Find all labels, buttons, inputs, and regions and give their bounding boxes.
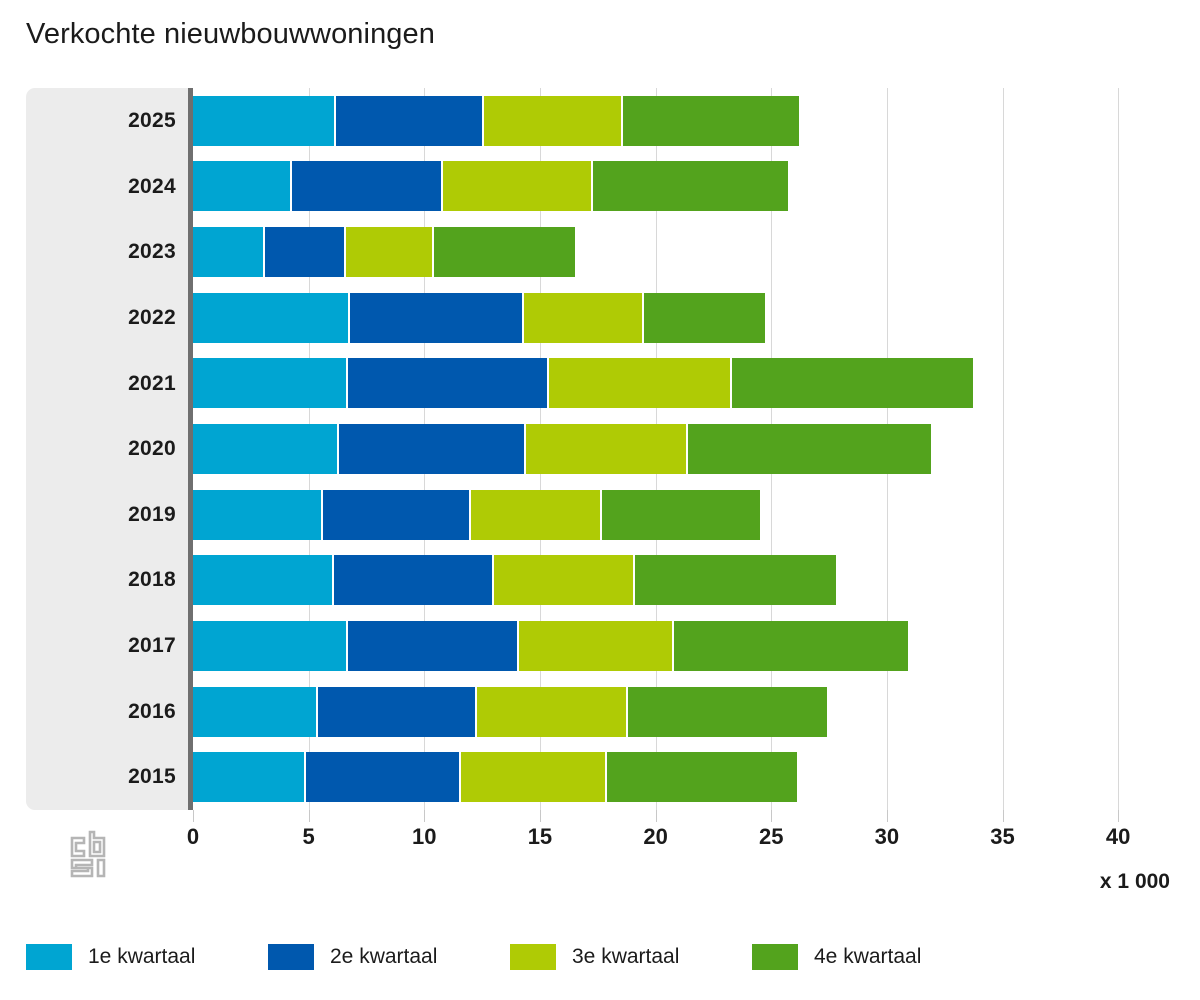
bar-segment-2021-q4[interactable]	[732, 358, 973, 408]
x-tick-mark	[771, 810, 772, 822]
bar-segment-2022-q3[interactable]	[524, 293, 642, 343]
bar-segment-2023-q4[interactable]	[434, 227, 575, 277]
bar-segment-2023-q3[interactable]	[346, 227, 432, 277]
bar-segment-2018-q1[interactable]	[193, 555, 332, 605]
bar-track	[193, 227, 1176, 277]
bar-track	[193, 687, 1176, 737]
category-label-2020: 2020	[26, 416, 176, 482]
x-tick-mark	[424, 810, 425, 822]
bar-track	[193, 555, 1176, 605]
bar-segment-2017-q1[interactable]	[193, 621, 346, 671]
legend-swatch-icon	[510, 944, 556, 970]
category-label-2016: 2016	[26, 679, 176, 745]
category-label-2024: 2024	[26, 154, 176, 220]
bar-track	[193, 96, 1176, 146]
bar-track	[193, 358, 1176, 408]
bar-track	[193, 424, 1176, 474]
bar-segment-2015-q3[interactable]	[461, 752, 605, 802]
x-tick-mark	[540, 810, 541, 822]
bar-segment-2018-q3[interactable]	[494, 555, 633, 605]
bar-row: 2019	[26, 482, 1176, 548]
bar-segment-2015-q1[interactable]	[193, 752, 304, 802]
bar-segment-2019-q1[interactable]	[193, 490, 321, 540]
legend-item-q2[interactable]: 2e kwartaal	[268, 944, 510, 970]
x-tick-label-15: 15	[528, 824, 552, 850]
bar-segment-2025-q2[interactable]	[336, 96, 482, 146]
unit-label: x 1 000	[1100, 870, 1170, 894]
bar-segment-2025-q4[interactable]	[623, 96, 799, 146]
legend-swatch-icon	[752, 944, 798, 970]
x-tick-label-5: 5	[303, 824, 315, 850]
bar-segment-2015-q4[interactable]	[607, 752, 797, 802]
bar-segment-2024-q1[interactable]	[193, 161, 290, 211]
bar-segment-2017-q3[interactable]	[519, 621, 672, 671]
legend-item-q3[interactable]: 3e kwartaal	[510, 944, 752, 970]
bar-track	[193, 293, 1176, 343]
bar-segment-2020-q2[interactable]	[339, 424, 524, 474]
chart-page: Verkochte nieuwbouwwoningen 202520242023…	[0, 0, 1200, 1000]
bar-segment-2016-q2[interactable]	[318, 687, 476, 737]
bar-segment-2025-q1[interactable]	[193, 96, 334, 146]
bar-segment-2018-q4[interactable]	[635, 555, 837, 605]
bar-segment-2020-q3[interactable]	[526, 424, 686, 474]
bar-segment-2015-q2[interactable]	[306, 752, 459, 802]
bar-segment-2024-q3[interactable]	[443, 161, 591, 211]
bar-segment-2022-q2[interactable]	[350, 293, 521, 343]
bar-row: 2018	[26, 547, 1176, 613]
page-title: Verkochte nieuwbouwwoningen	[26, 18, 435, 51]
bar-segment-2021-q2[interactable]	[348, 358, 547, 408]
bar-segment-2025-q3[interactable]	[484, 96, 621, 146]
category-label-2021: 2021	[26, 351, 176, 417]
category-label-2022: 2022	[26, 285, 176, 351]
bar-segment-2021-q3[interactable]	[549, 358, 730, 408]
bar-row: 2020	[26, 416, 1176, 482]
x-axis: 0510152025303540	[26, 810, 1176, 850]
bar-row: 2024	[26, 154, 1176, 220]
bar-track	[193, 621, 1176, 671]
x-tick-label-0: 0	[187, 824, 199, 850]
legend-swatch-icon	[268, 944, 314, 970]
legend-label: 1e kwartaal	[88, 945, 195, 969]
bar-segment-2023-q2[interactable]	[265, 227, 344, 277]
category-label-2023: 2023	[26, 219, 176, 285]
bar-row: 2023	[26, 219, 1176, 285]
bar-row: 2022	[26, 285, 1176, 351]
x-tick-mark	[1003, 810, 1004, 822]
bar-row: 2015	[26, 744, 1176, 810]
legend-swatch-icon	[26, 944, 72, 970]
bar-row: 2021	[26, 351, 1176, 417]
plot-area: 2025202420232022202120202019201820172016…	[26, 88, 1176, 810]
bar-segment-2024-q4[interactable]	[593, 161, 788, 211]
bar-segment-2018-q2[interactable]	[334, 555, 492, 605]
chart-legend: 1e kwartaal2e kwartaal3e kwartaal4e kwar…	[26, 944, 994, 970]
bar-segment-2020-q1[interactable]	[193, 424, 337, 474]
bar-segment-2020-q4[interactable]	[688, 424, 931, 474]
category-label-2018: 2018	[26, 547, 176, 613]
bar-segment-2022-q1[interactable]	[193, 293, 348, 343]
x-tick-mark	[1118, 810, 1119, 822]
legend-item-q4[interactable]: 4e kwartaal	[752, 944, 994, 970]
bar-track	[193, 161, 1176, 211]
bar-segment-2016-q1[interactable]	[193, 687, 316, 737]
bar-segment-2021-q1[interactable]	[193, 358, 346, 408]
category-label-2025: 2025	[26, 88, 176, 154]
bar-row: 2025	[26, 88, 1176, 154]
bar-segment-2017-q2[interactable]	[348, 621, 517, 671]
x-tick-mark	[887, 810, 888, 822]
x-tick-label-40: 40	[1106, 824, 1130, 850]
x-tick-label-35: 35	[990, 824, 1014, 850]
bar-segment-2019-q4[interactable]	[602, 490, 760, 540]
legend-label: 2e kwartaal	[330, 945, 437, 969]
bar-rows: 2025202420232022202120202019201820172016…	[26, 88, 1176, 810]
x-tick-label-30: 30	[875, 824, 899, 850]
bar-row: 2017	[26, 613, 1176, 679]
category-label-2015: 2015	[26, 744, 176, 810]
x-tick-mark	[193, 810, 194, 822]
x-tick-label-20: 20	[643, 824, 667, 850]
bar-segment-2017-q4[interactable]	[674, 621, 908, 671]
x-tick-label-10: 10	[412, 824, 436, 850]
legend-label: 4e kwartaal	[814, 945, 921, 969]
bar-row: 2016	[26, 679, 1176, 745]
bar-segment-2024-q2[interactable]	[292, 161, 440, 211]
bar-segment-2019-q3[interactable]	[471, 490, 601, 540]
bar-segment-2016-q4[interactable]	[628, 687, 827, 737]
bar-segment-2022-q4[interactable]	[644, 293, 765, 343]
legend-label: 3e kwartaal	[572, 945, 679, 969]
category-label-2019: 2019	[26, 482, 176, 548]
bar-track	[193, 752, 1176, 802]
bar-segment-2023-q1[interactable]	[193, 227, 263, 277]
bar-track	[193, 490, 1176, 540]
category-label-2017: 2017	[26, 613, 176, 679]
x-tick-mark	[309, 810, 310, 822]
x-tick-label-25: 25	[759, 824, 783, 850]
legend-item-q1[interactable]: 1e kwartaal	[26, 944, 268, 970]
bar-segment-2016-q3[interactable]	[477, 687, 625, 737]
bar-segment-2019-q2[interactable]	[323, 490, 469, 540]
x-tick-mark	[656, 810, 657, 822]
